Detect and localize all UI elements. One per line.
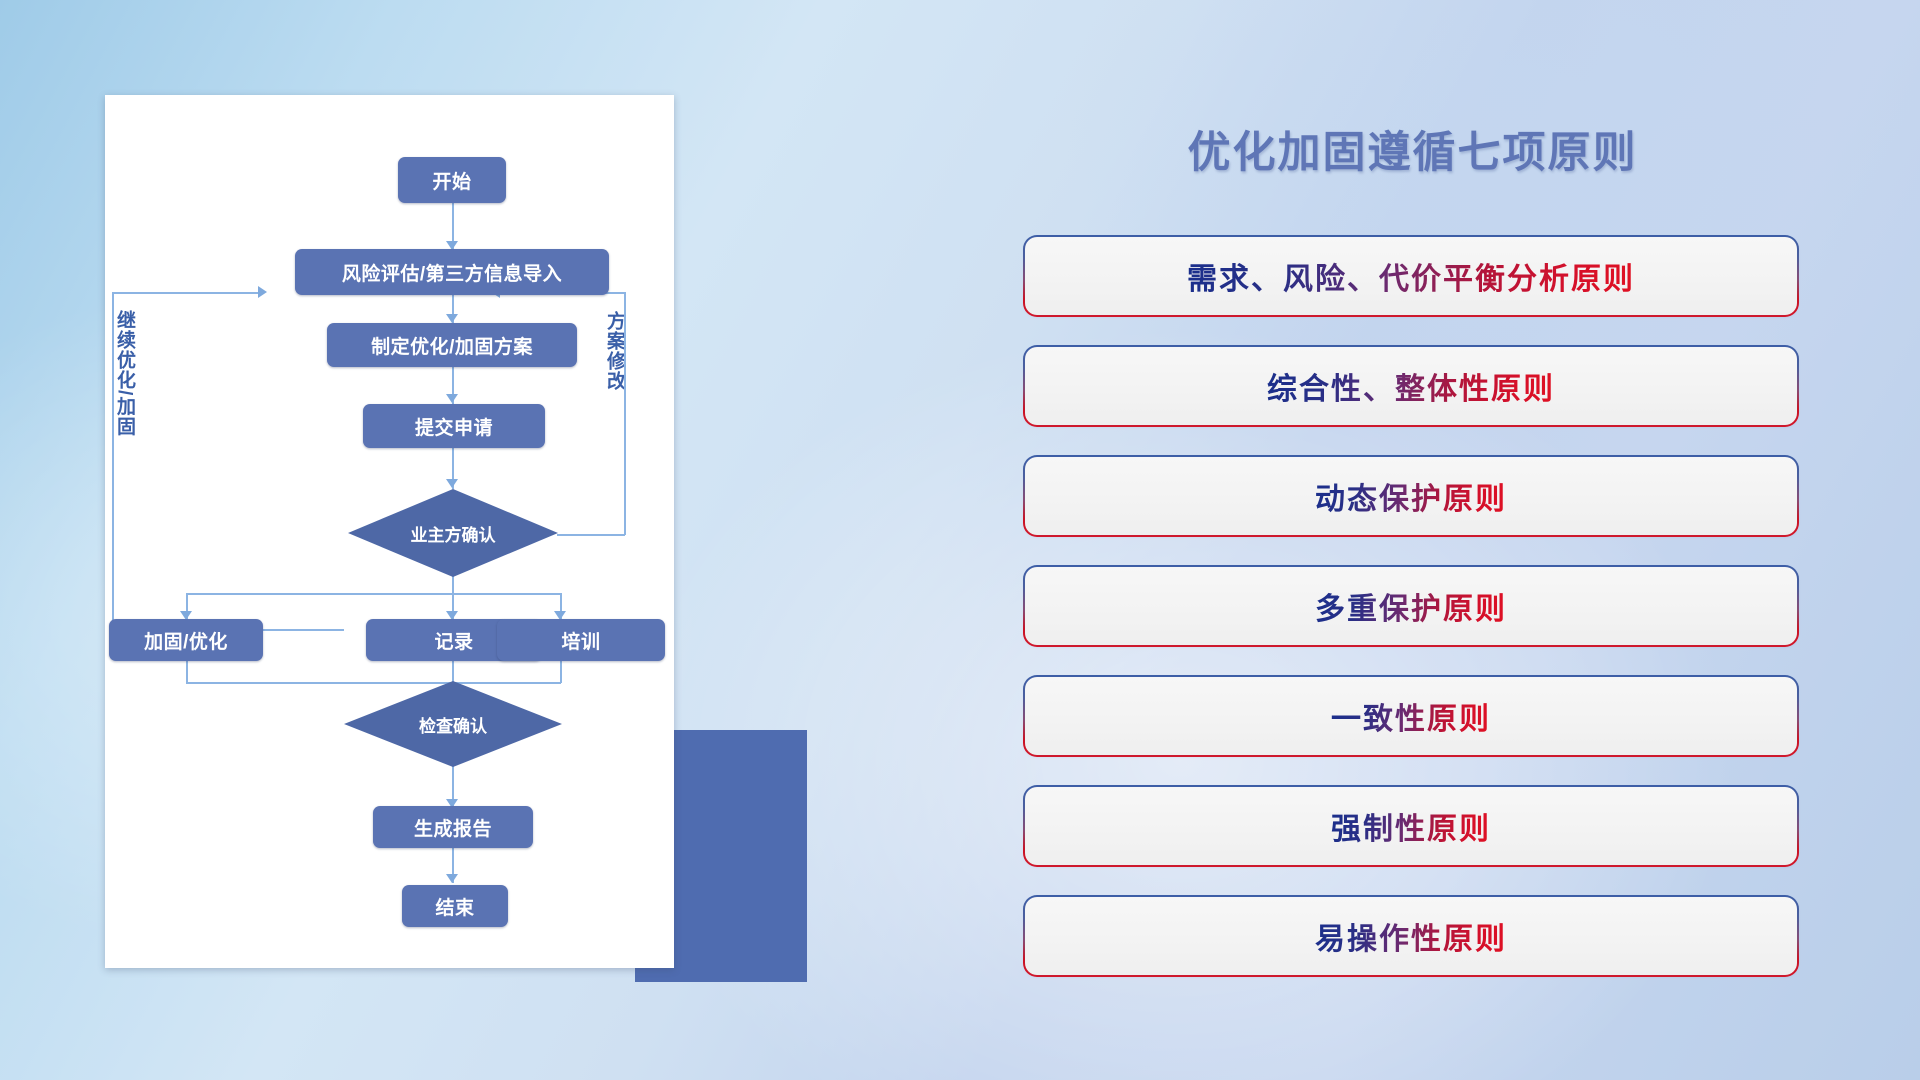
flow-node-submit-application[interactable]: 提交申请 [363,404,545,448]
principle-card-4[interactable]: 多重保护原则 [1025,567,1797,645]
principle-card-5[interactable]: 一致性原则 [1025,677,1797,755]
flow-decision-owner-confirm[interactable]: 业主方确认 [348,489,558,577]
connector-branch-bus [186,593,561,595]
flow-node-generate-report[interactable]: 生成报告 [373,806,533,848]
flow-node-start[interactable]: 开始 [398,157,506,203]
arrowhead-submit-owner [446,479,458,488]
arrowhead-plan-submit [446,394,458,403]
connector-left-loop-vertical [112,292,114,630]
principle-label-2: 综合性、整体性原则 [1267,364,1555,408]
principle-label-1: 需求、风险、代价平衡分析原则 [1187,254,1635,298]
principle-card-2[interactable]: 综合性、整体性原则 [1025,347,1797,425]
principle-card-1[interactable]: 需求、风险、代价平衡分析原则 [1025,237,1797,315]
flow-decision-check-confirm[interactable]: 检查确认 [344,681,562,767]
flow-node-reinforce[interactable]: 加固/优化 [109,619,263,661]
principle-label-4: 多重保护原则 [1315,584,1507,628]
flow-node-end[interactable]: 结束 [402,885,508,927]
principle-card-3[interactable]: 动态保护原则 [1025,457,1797,535]
connector-merge-bus [186,682,561,684]
arrowhead-risk-plan [446,314,458,323]
connector-owner-right [557,534,625,536]
principle-card-6[interactable]: 强制性原则 [1025,787,1797,865]
slide-canvas: 继续优化/加固 方案修改 [0,0,1920,1080]
flowchart-panel: 继续优化/加固 方案修改 [105,95,674,968]
principles-title: 优化加固遵循七项原则 [1025,118,1800,180]
principle-label-6: 强制性原则 [1331,804,1491,848]
connector-left-loop-top [112,292,260,294]
principles-panel: 优化加固遵循七项原则 需求、风险、代价平衡分析原则 综合性、整体性原则 动态保护… [1025,100,1800,1000]
edge-label-right-loop: 方案修改 [605,311,624,421]
connector-right-loop-vertical [624,292,626,535]
principle-label-7: 易操作性原则 [1315,914,1507,958]
flow-node-plan[interactable]: 制定优化/加固方案 [327,323,577,367]
principle-label-3: 动态保护原则 [1315,474,1507,518]
edge-label-left-loop: 继续优化/加固 [115,310,134,450]
principle-label-5: 一致性原则 [1331,694,1491,738]
arrowhead-left-loop [258,286,267,298]
flow-node-training[interactable]: 培训 [497,619,665,661]
arrowhead-report-end [446,874,458,883]
principle-card-7[interactable]: 易操作性原则 [1025,897,1797,975]
flow-node-risk-assessment[interactable]: 风险评估/第三方信息导入 [295,249,609,295]
